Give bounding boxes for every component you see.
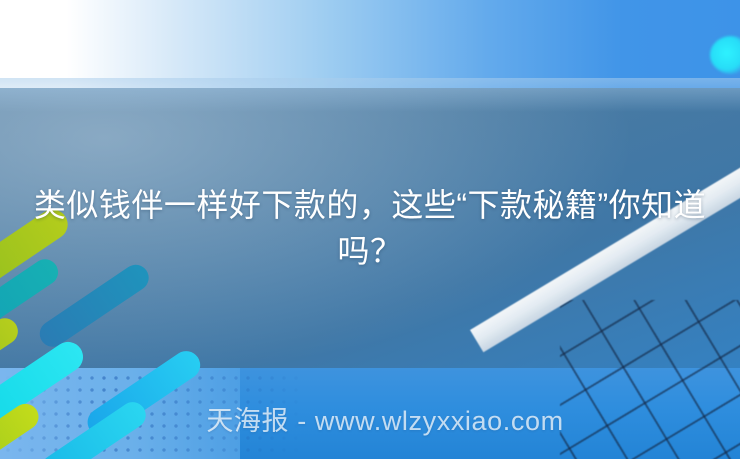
overexposed-sky-strip — [0, 0, 740, 88]
poster-canvas: 类似钱伴一样好下款的，这些“下款秘籍”你知道吗？ 天海报 - www.wlzyx… — [0, 0, 740, 459]
watermark: 天海报 - www.wlzyxxiao.com — [0, 404, 740, 438]
headline-text: 类似钱伴一样好下款的，这些“下款秘籍”你知道吗？ — [34, 187, 706, 269]
sky-strip-feather — [0, 78, 740, 112]
watermark-text: 天海报 - www.wlzyxxiao.com — [206, 406, 563, 436]
poster-headline: 类似钱伴一样好下款的，这些“下款秘籍”你知道吗？ — [0, 182, 740, 274]
